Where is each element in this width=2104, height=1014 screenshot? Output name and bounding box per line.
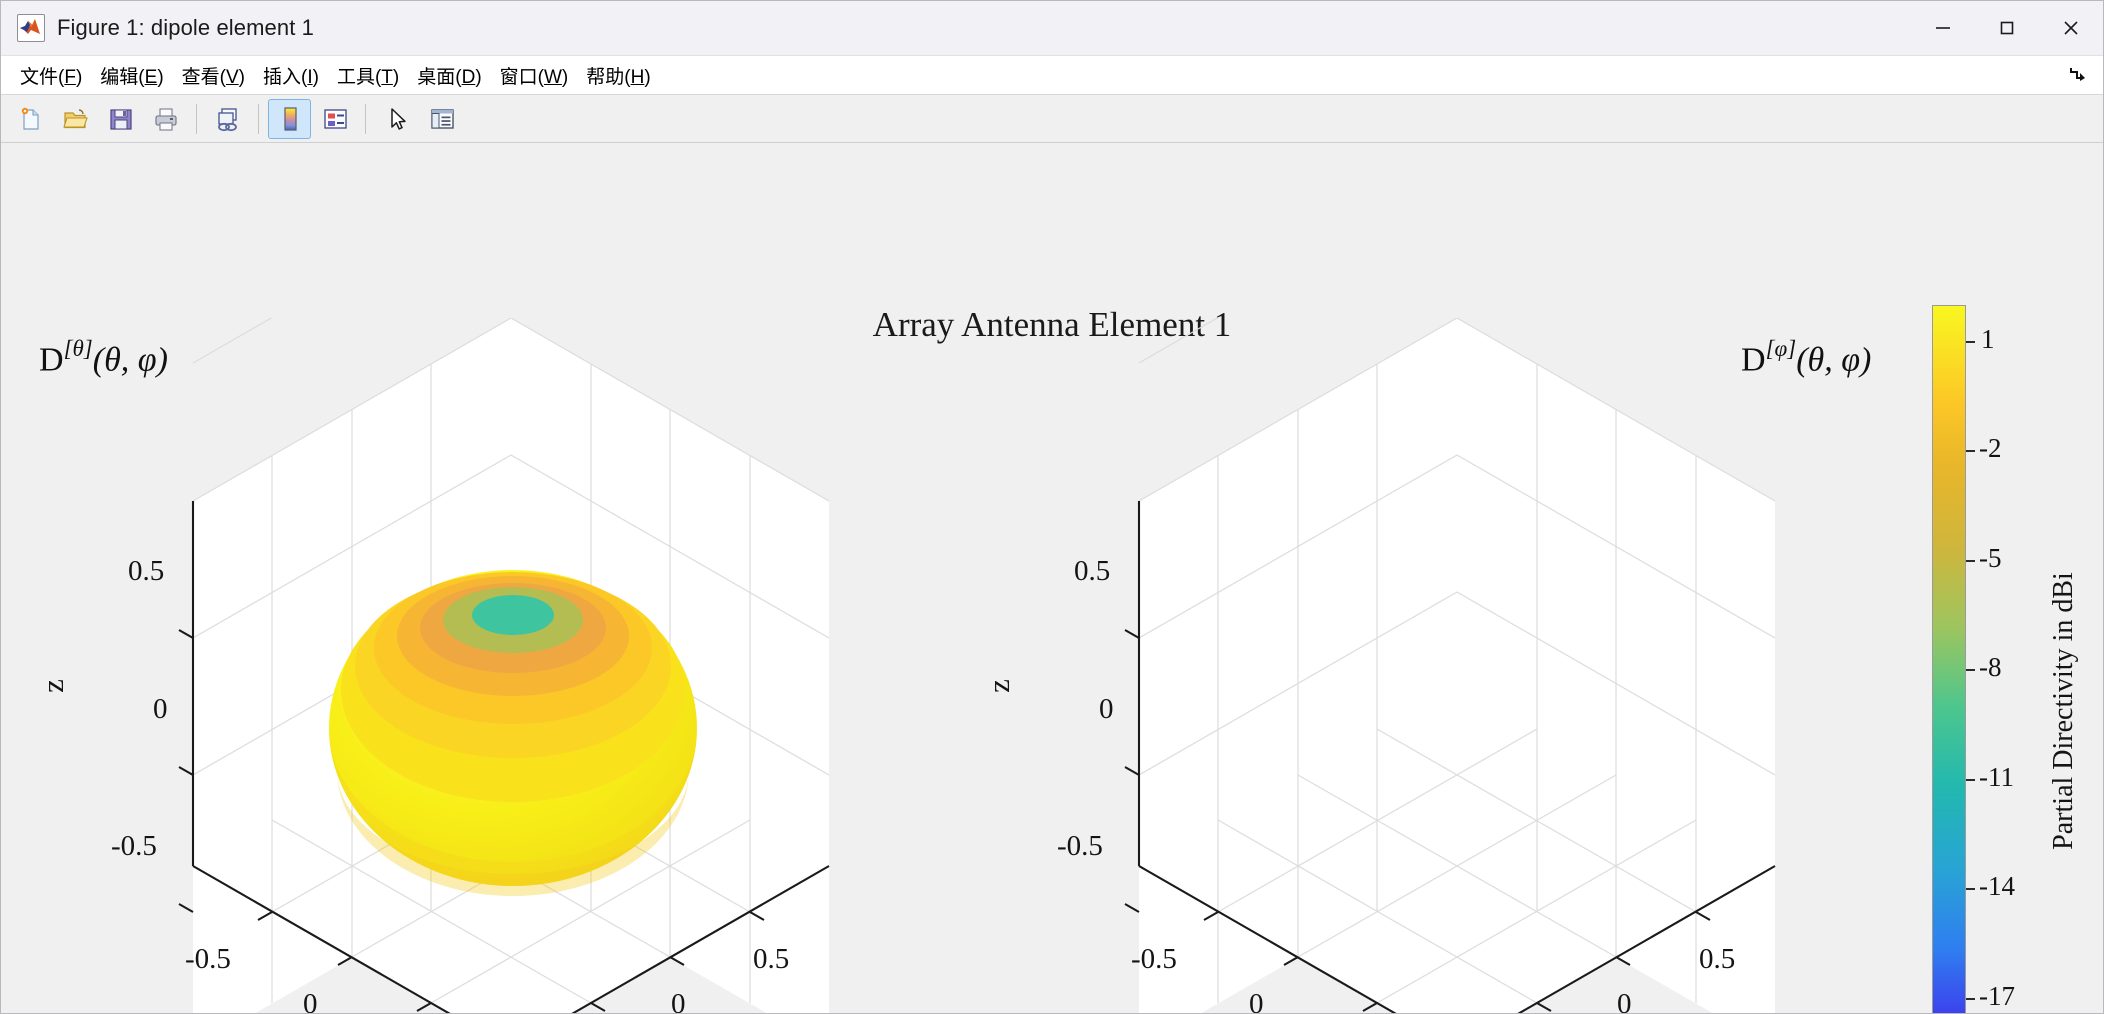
menu-key-desktop: D [462,67,476,88]
colorbar-label-0: 1 [1981,324,1995,355]
colorbar-label-6: -17 [1979,981,2015,1012]
menu-item-insert[interactable]: 插入(I) [254,59,328,92]
panel-label-theta: D[θ](θ, φ) [39,338,168,379]
close-button[interactable] [2039,1,2103,55]
figure-window: Figure 1: dipole element 1 文件(F) 编辑(E) 查… [0,0,2104,1014]
colorbar-tick-4 [1966,779,1975,781]
axes-theta-xtick-0: -0.5 [185,943,231,976]
axes-theta-polarization[interactable] [161,318,861,1013]
menu-label-window: 窗口 [500,67,538,88]
menu-label-desktop: 桌面 [417,67,455,88]
menu-label-view: 查看 [182,67,220,88]
axes-phi-ytick-1: 0 [1617,988,1632,1013]
surface-theta-pattern [329,570,697,896]
matlab-icon [17,14,45,42]
colorbar-tick-0 [1966,341,1975,343]
property-inspector-icon[interactable] [420,99,463,139]
menu-key-file: F [64,67,76,88]
window-title: Figure 1: dipole element 1 [57,15,314,41]
menu-item-desktop[interactable]: 桌面(D) [408,59,490,92]
print-figure-icon[interactable] [144,99,187,139]
menu-label-edit: 编辑 [100,67,138,88]
axes-phi-xtick-0: -0.5 [1131,943,1177,976]
colorbar-tick-2 [1966,560,1975,562]
axes-phi-ztick-2: -0.5 [1057,830,1103,863]
menu-label-insert: 插入 [263,67,301,88]
menu-label-file: 文件 [20,67,58,88]
colorbar-tick-6 [1966,998,1975,1000]
axes-phi-ytick-2: 0.5 [1699,943,1735,976]
dock-figure-icon[interactable] [2067,63,2089,90]
window-controls [1911,1,2103,55]
axes-theta-ytick-1: 0 [671,988,686,1013]
minimize-button[interactable] [1911,1,1975,55]
legend-icon[interactable] [313,99,356,139]
colorbar-label-4: -11 [1979,762,2014,793]
toolbar-separator-2 [258,104,259,134]
axes-phi-zlabel: z [981,679,1017,693]
menu-item-edit[interactable]: 编辑(E) [91,59,172,92]
axes-theta-ztick-0: 0.5 [128,555,164,588]
panel-label-theta-main: D [39,341,64,378]
axes-theta-zlabel: z [35,679,71,693]
menu-label-help: 帮助 [586,67,624,88]
menu-bar: 文件(F) 编辑(E) 查看(V) 插入(I) 工具(T) 桌面(D) 窗口(W… [1,56,2103,95]
link-plot-icon[interactable] [206,99,249,139]
axes-phi-ztick-0: 0.5 [1074,555,1110,588]
menu-key-help: H [631,67,645,88]
toolbar-separator-3 [365,104,366,134]
axes-phi-xtick-1: 0 [1249,988,1264,1013]
axes-phi-polarization[interactable] [1107,318,1807,1013]
colorbar-tick-3 [1966,669,1975,671]
colorbar-icon[interactable] [268,99,311,139]
menu-key-edit: E [145,67,158,88]
menu-item-view[interactable]: 查看(V) [173,59,254,92]
axes-theta-ztick-2: -0.5 [111,830,157,863]
colorbar-title: Partial Directivity in dBi [2048,551,2080,871]
colorbar-label-1: -2 [1979,433,2002,464]
menu-key-window: W [544,67,562,88]
edit-plot-icon[interactable] [375,99,418,139]
menu-key-view: V [226,67,239,88]
axes-theta-xtick-1: 0 [303,988,318,1013]
menu-item-window[interactable]: 窗口(W) [491,59,578,92]
panel-label-theta-superscript: [θ] [64,336,93,361]
colorbar[interactable]: 1 -2 -5 -8 -11 -14 -17 -20 Partial Direc… [1926,143,2103,1003]
menu-key-tools: T [381,67,393,88]
toolbar [1,95,2103,143]
menu-item-help[interactable]: 帮助(H) [577,59,659,92]
menu-item-file[interactable]: 文件(F) [11,59,91,92]
axes-theta-ztick-1: 0 [153,693,168,726]
title-bar: Figure 1: dipole element 1 [1,1,2103,56]
menu-key-insert: I [307,67,312,88]
axes-theta-ytick-2: 0.5 [753,943,789,976]
new-figure-icon[interactable] [9,99,52,139]
colorbar-tick-1 [1966,450,1975,452]
open-file-icon[interactable] [54,99,97,139]
menu-label-tools: 工具 [337,67,375,88]
colorbar-label-2: -5 [1979,543,2002,574]
panel-label-phi-args: (θ, φ) [1796,341,1871,378]
colorbar-tick-5 [1966,888,1975,890]
save-figure-icon[interactable] [99,99,142,139]
colorbar-gradient [1932,305,1966,1013]
maximize-button[interactable] [1975,1,2039,55]
menu-item-tools[interactable]: 工具(T) [328,59,408,92]
panel-label-theta-args: (θ, φ) [93,341,168,378]
figure-canvas[interactable]: Array Antenna Element 1 D[θ](θ, φ) D[φ](… [1,143,2103,1013]
colorbar-label-5: -14 [1979,871,2015,902]
toolbar-separator-1 [196,104,197,134]
axes-phi-ztick-1: 0 [1099,693,1114,726]
colorbar-label-3: -8 [1979,652,2002,683]
